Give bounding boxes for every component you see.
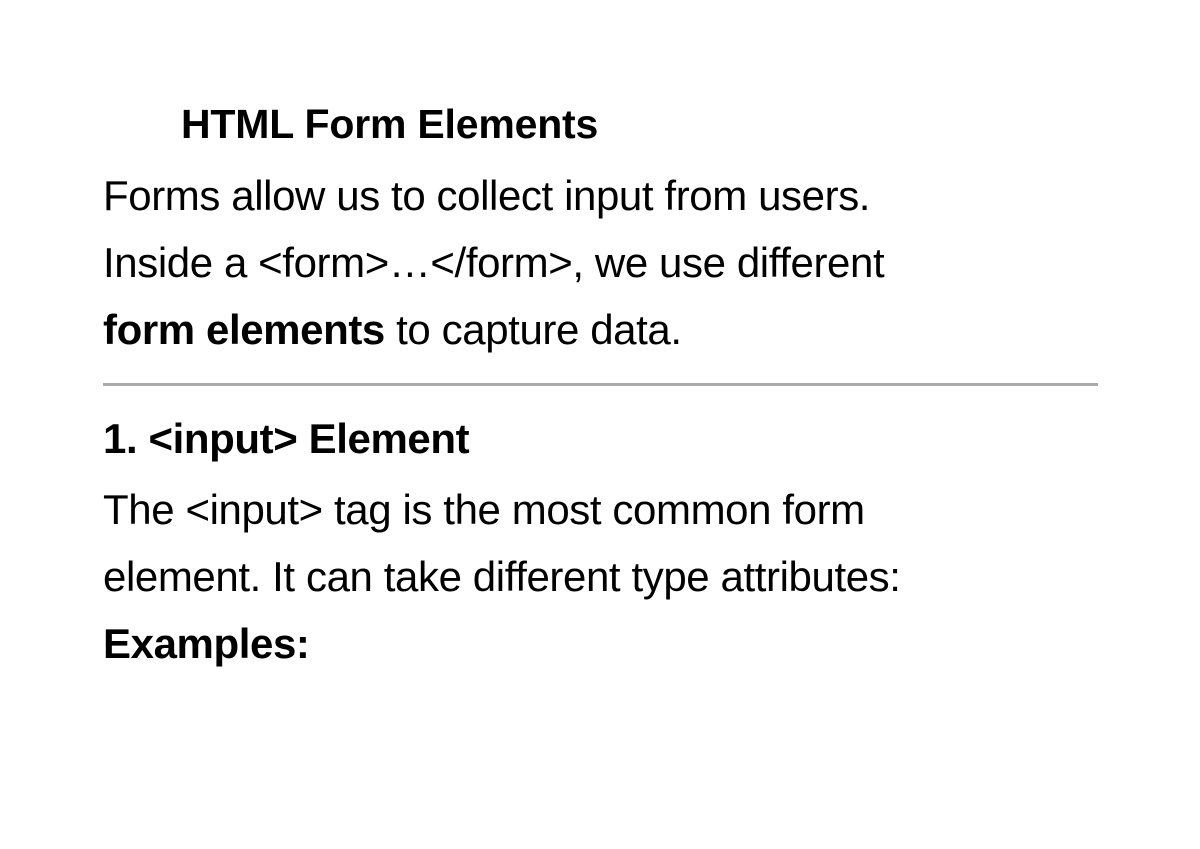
slide-canvas: HTML Form Elements Forms allow us to col… [0, 0, 1200, 849]
section-heading-input-element: 1. <input> Element [103, 408, 1103, 470]
examples-label: Examples: [103, 610, 1103, 678]
section-body-paragraph: The <input> tag is the most common form … [103, 476, 1103, 610]
section-divider [103, 383, 1098, 386]
section-body-line-2: element. It can take different type attr… [103, 553, 901, 600]
intro-paragraph: Forms allow us to collect input from use… [103, 162, 1103, 363]
intro-line-3-rest: to capture data. [385, 306, 682, 353]
intro-line-2: Inside a <form>…</form>, we use differen… [103, 239, 884, 286]
page-title: HTML Form Elements [103, 96, 1103, 152]
section-body-line-1: The <input> tag is the most common form [103, 486, 865, 533]
slide-content: HTML Form Elements Forms allow us to col… [103, 96, 1103, 678]
intro-line-3-emphasis: form elements [103, 306, 385, 353]
intro-line-1: Forms allow us to collect input from use… [103, 172, 870, 219]
